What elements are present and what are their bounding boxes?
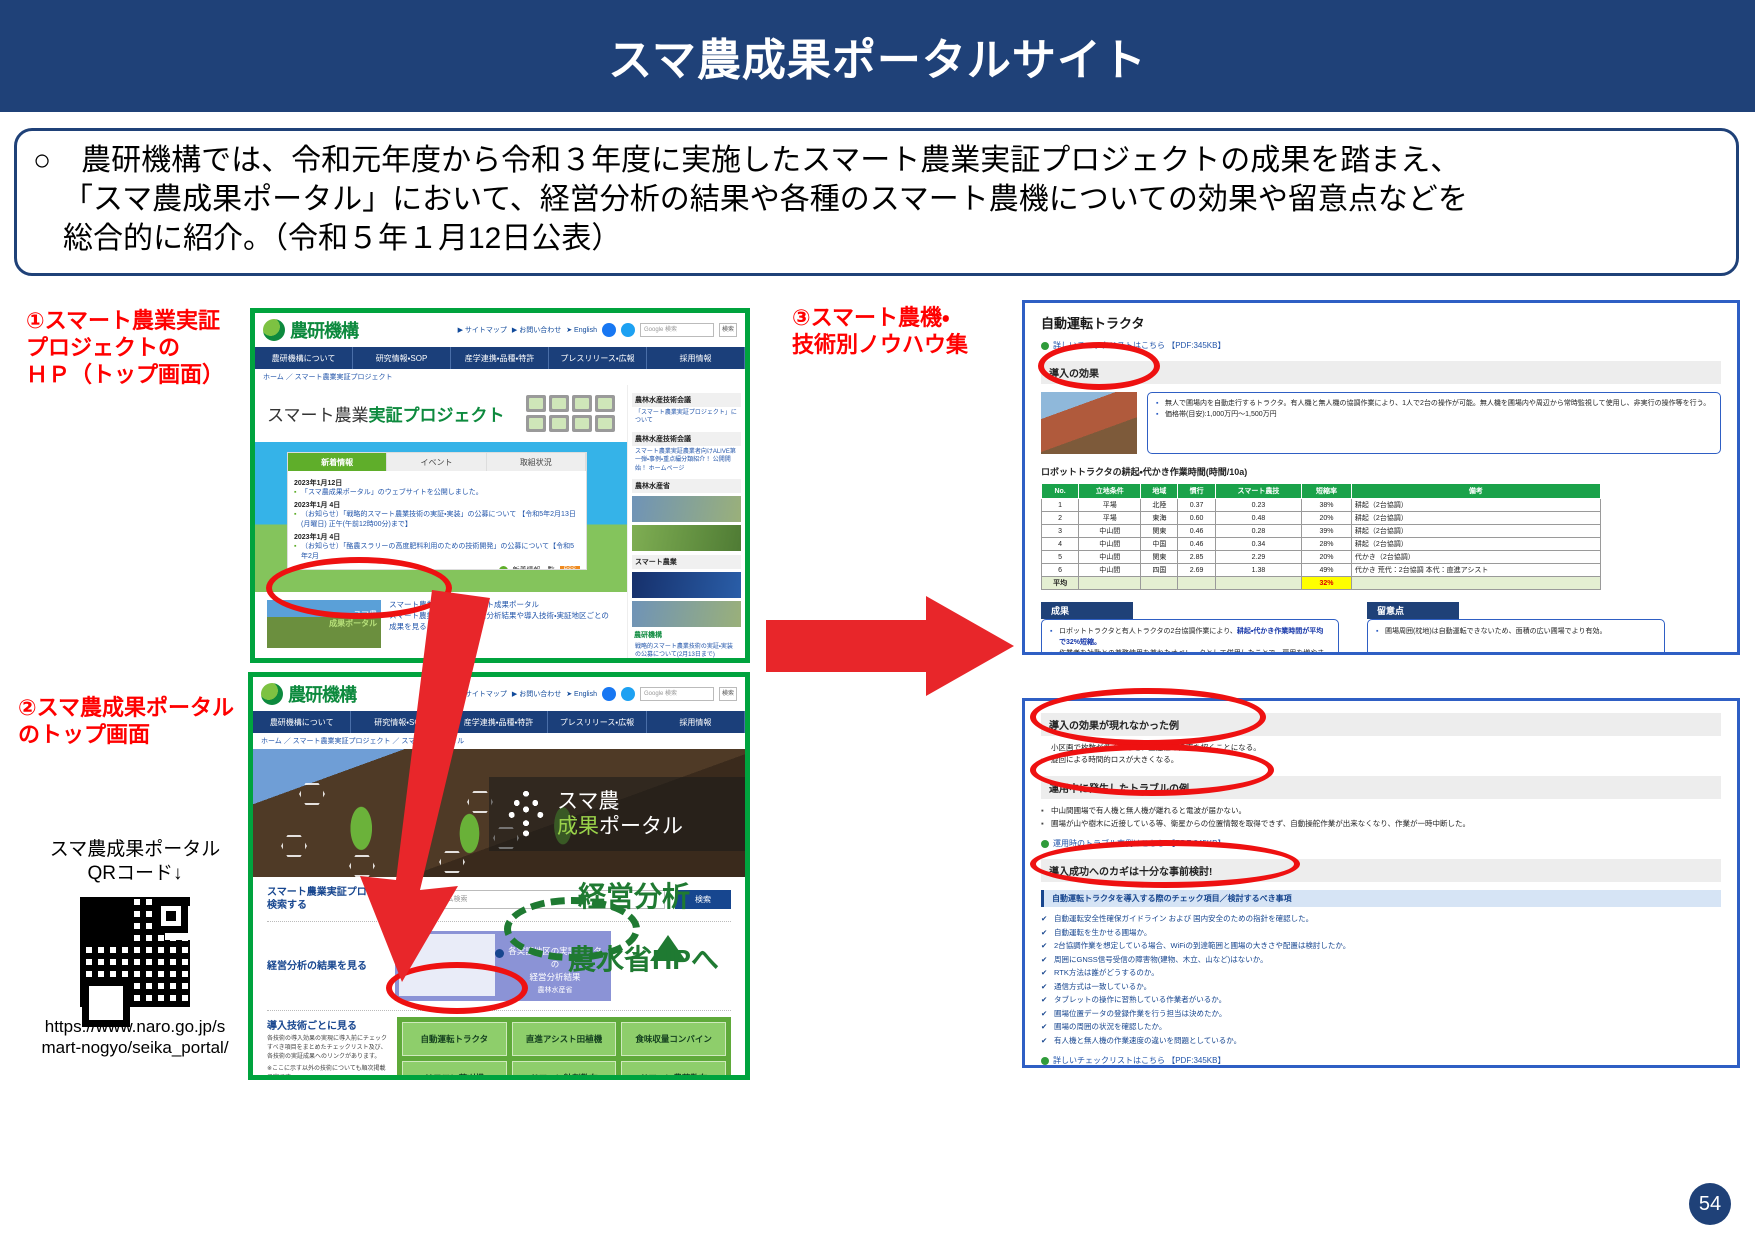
table-average-row: 平均 32% — [1042, 577, 1601, 590]
qr-caption-line-2: QRコード↓ — [40, 862, 230, 886]
nav-item-recruit[interactable]: 採用情報 — [647, 711, 745, 733]
sidebar-link[interactable]: スマート農業実証農業者向けALIVE第一弾・事例・重点編分類紹介！ 公開開始！ … — [632, 446, 741, 475]
qr-url-text: https://www.naro.go.jp/smart-nogyo/seika… — [40, 1016, 230, 1059]
check-item: 圃場位置データの登録作業を行う担当は決めたか。 — [1041, 1007, 1721, 1021]
news-card: 新着情報 イベント 取組状況 2023年1月12日 「スマ農成果ポータル」のウェ… — [287, 452, 587, 570]
naro-logo-icon — [261, 683, 283, 705]
sidebar-link[interactable]: 「スマート農業実証プロジェクト」について — [632, 407, 741, 428]
cloud-icon — [595, 415, 615, 432]
nav-item-recruit[interactable]: 採用情報 — [647, 347, 745, 369]
work-time-table: No. 立地条件 地域 慣行 スマート農技 短縮率 備考 1平場北陸0.370.… — [1041, 483, 1601, 590]
tractor-icon — [549, 395, 569, 412]
naro-logo-icon — [263, 319, 285, 341]
breadcrumb: ホーム ／ スマート農業実証プロジェクト — [255, 369, 745, 385]
tablet-icon — [572, 415, 592, 432]
site-search-input[interactable]: Google 検索 — [640, 687, 714, 701]
hex-icon — [281, 835, 307, 857]
english-link[interactable]: ➤ English — [566, 326, 597, 334]
callout-2-line-2: のトップ画面 — [18, 722, 248, 749]
check-item: 周囲にGNSS信号受信の障害物(建物、木立、山など)はないか。 — [1041, 953, 1721, 967]
callout-2-line-1: ②スマ農成果ポータル — [18, 695, 248, 722]
sitemap-link[interactable]: ▶ サイトマップ — [458, 325, 507, 335]
tab-status[interactable]: 取組状況 — [487, 453, 586, 471]
tech-section: 導入技術ごとに見る 各技術の導入効果の実現に導入前にチェックすべき項目をまとめた… — [253, 1011, 745, 1080]
screenshot-trouble-and-checklist: 導入の効果が現れなかった例 小区画で枚数が多くなると、生産性の低下を招くことにな… — [1022, 698, 1740, 1068]
results-body: ロボットトラクタと有人トラクタの2台協調作業により、耕起・代かき作業時間が平均で… — [1041, 619, 1339, 655]
news-body: 2023年1月12日 「スマ農成果ポータル」のウェブサイトを公開しました。 20… — [288, 471, 586, 570]
site-search-button[interactable]: 検索 — [719, 323, 737, 337]
project-title: スマート農業実証プロジェクト — [267, 401, 505, 426]
facebook-icon[interactable] — [602, 323, 616, 337]
play-icon — [1041, 342, 1049, 350]
play-icon — [1041, 840, 1049, 848]
tile-remote-mower[interactable]: リモコン草刈機 — [402, 1061, 507, 1080]
tile-auto-tractor[interactable]: 自動運転トラクタ — [402, 1022, 507, 1056]
results-column: 成果 ロボットトラクタと有人トラクタの2台協調作業により、耕起・代かき作業時間が… — [1041, 602, 1339, 655]
results-item: ロボットトラクタと有人トラクタの2台協調作業により、耕起・代かき作業時間が平均で… — [1050, 626, 1330, 648]
screenshot-auto-tractor-knowhow: 自動運転トラクタ 詳しいチェックリストはこちら 【PDF:345KB】 導入の効… — [1022, 300, 1740, 655]
naro-site-header: 農研機構 ▶ サイトマップ ▶ お問い合わせ ➤ English Google … — [255, 313, 745, 347]
cautions-body: 圃場周囲(枕地)は自動運転できないため、面積の広い圃場でより有効。 — [1367, 619, 1665, 655]
facebook-icon[interactable] — [602, 687, 616, 701]
tile-rice-planter[interactable]: 直進アシスト田植機 — [512, 1022, 617, 1056]
cautions-item: 圃場周囲(枕地)は自動運転できないため、面積の広い圃場でより有効。 — [1376, 626, 1656, 637]
tile-drone-pesticide[interactable]: ドローン農薬散布 — [621, 1061, 726, 1080]
tech-section-note-2: ※ここに示す以外の技術についても順次掲載予定です。 — [267, 1065, 387, 1080]
twitter-icon[interactable] — [621, 687, 635, 701]
effect-section-bar: 導入の効果 — [1041, 361, 1721, 384]
site-search-button[interactable]: 検索 — [719, 687, 737, 701]
slide-title-bar: スマ農成果ポータルサイト — [0, 0, 1755, 112]
naro-global-nav: 農研機構について 研究情報・SOP 産学連携・品種・特許 プレスリリース・広報 … — [255, 347, 745, 369]
play-icon — [499, 566, 508, 570]
project-title-plain: スマート農業 — [267, 406, 369, 425]
sidebar-heading: 農林水産技術会議 — [632, 393, 741, 407]
naro-logo-text: 農研機構 — [290, 317, 358, 343]
cautions-heading: 留意点 — [1367, 602, 1459, 619]
callout-3-line-2: 技術別ノウハウ集 — [792, 332, 1007, 359]
table-row: 4中山間中国0.460.3428%耕起（2台協調） — [1042, 538, 1601, 551]
project-title-accent: 実証プロジェクト — [369, 406, 505, 425]
page-number-badge: 54 — [1689, 1183, 1731, 1225]
check-item: 通信方式は一致しているか。 — [1041, 980, 1721, 994]
contact-link[interactable]: ▶ お問い合わせ — [512, 325, 561, 335]
th-no: No. — [1042, 484, 1079, 499]
no-effect-item: 旋回による時間的ロスが大きくなる。 — [1041, 754, 1721, 766]
effect-item: 価格帯(目安):1,000万円～1,500万円 — [1156, 409, 1712, 420]
trouble-item: 中山間圃場で有人機と無人機が離れると電波が届かない。 — [1041, 805, 1721, 817]
right-sidebar: 農林水産技術会議 「スマート農業実証プロジェクト」について 農林水産技術会議 ス… — [627, 385, 745, 663]
lead-paragraph-box: ○ 農研機構では、令和元年度から令和３年度に実施したスマート農業実証プロジェクト… — [14, 128, 1739, 276]
callout-label-3: ③スマート農機・ 技術別ノウハウ集 — [792, 305, 1007, 359]
sidebar-banner-image[interactable] — [632, 496, 741, 522]
field-icon — [595, 395, 615, 412]
tab-news[interactable]: 新着情報 — [288, 453, 387, 471]
tile-combine[interactable]: 食味収量コンバイン — [621, 1022, 726, 1056]
site-search-input[interactable]: Google 検索 — [640, 323, 714, 337]
callout-1-line-1: ①スマート農業実証 — [26, 308, 241, 335]
play-icon — [1041, 1057, 1049, 1065]
th-conv: 慣行 — [1178, 484, 1215, 499]
avg-reduction-value: 32% — [1302, 577, 1352, 590]
check-item: 圃場の周囲の状況を確認したか。 — [1041, 1020, 1721, 1034]
lead-line-1: ○ 農研機構では、令和元年度から令和３年度に実施したスマート農業実証プロジェクト… — [33, 141, 1720, 180]
no-effect-item: 小区画で枚数が多くなると、生産性の低下を招くことになる。 — [1041, 742, 1721, 754]
table-header-row: No. 立地条件 地域 慣行 スマート農技 短縮率 備考 — [1042, 484, 1601, 499]
twitter-icon[interactable] — [621, 323, 635, 337]
table-row: 2平場東海0.600.4820%耕起（2台協調） — [1042, 512, 1601, 525]
tech-section-note-1: 各技術の導入効果の実現に導入前にチェックすべき項目をまとめたチェックリスト及び、… — [267, 1035, 387, 1062]
sidebar-heading: 農林水産技術会議 — [632, 432, 741, 446]
checklist-pdf-link[interactable]: 詳しいチェックリストはこちら 【PDF:345KB】 — [1041, 340, 1721, 351]
hex-icon — [299, 783, 325, 805]
nav-item-press[interactable]: プレスリリース・広報 — [549, 347, 647, 369]
tab-events[interactable]: イベント — [387, 453, 486, 471]
avg-label: 平均 — [1042, 577, 1079, 590]
check-item: 自動運転を生かせる圃場か。 — [1041, 926, 1721, 940]
qr-block: スマ農成果ポータル QRコード↓ https://www.naro.go.jp/… — [40, 838, 230, 1058]
news-link[interactable]: （お知らせ）「酪農スラリーの高度肥料利用のための技術開発」の公募について【令和5… — [294, 542, 580, 561]
callout-1-line-2: プロジェクトの — [26, 335, 241, 362]
callout-label-1: ①スマート農業実証 プロジェクトの ＨＰ（トップ画面） — [26, 308, 241, 388]
nav-item-collab[interactable]: 産学連携・品種・特許 — [451, 347, 549, 369]
tech-icon-grid — [526, 395, 615, 432]
news-date: 2023年1月12日 — [294, 478, 580, 488]
results-item: 作業者を社動との兼務使用を兼ねたオペレータとして併用したことで、雇用を増やさずに… — [1050, 648, 1330, 655]
th-note: 備考 — [1351, 484, 1600, 499]
qr-code-image — [75, 892, 195, 1012]
callout-label-2: ②スマ農成果ポータル のトップ画面 — [18, 695, 248, 749]
table-caption: ロボットトラクタの耕起・代かき作業時間(時間/10a) — [1041, 465, 1721, 478]
th-rate: 短縮率 — [1302, 484, 1352, 499]
news-date: 2023年1月 4日 — [294, 500, 580, 510]
table-row: 1平場北陸0.370.2338%耕起（2台協調） — [1042, 499, 1601, 512]
table-row: 3中山間関東0.460.2839%耕起（2台協調） — [1042, 525, 1601, 538]
qr-caption-line-1: スマ農成果ポータル — [40, 838, 230, 862]
effect-text-box: 無人で圃場内を自動走行するトラクタ。有人機と無人機の協調作業により、1人で2台の… — [1147, 392, 1721, 454]
th-region: 地域 — [1141, 484, 1178, 499]
checklist-blue-bar: 自動運転トラクタを導入する際のチェック項目／検討するべき事項 — [1041, 890, 1721, 907]
nav-item-research[interactable]: 研究情報・SOP — [353, 347, 451, 369]
news-footer: 新着情報一覧 RSS — [294, 565, 580, 570]
check-item: タブレットの操作に習熟している作業者がいるか。 — [1041, 993, 1721, 1007]
news-link[interactable]: （お知らせ）「戦略的スマート農業技術の実証・実装」の公募について 【令和5年2月… — [294, 510, 580, 529]
effect-item: 無人で圃場内を自動走行するトラクタ。有人機と無人機の協調作業により、1人で2台の… — [1156, 398, 1712, 409]
success-key-section-bar: 導入成功へのカギは十分な事前検討! — [1041, 859, 1721, 882]
news-more-link[interactable]: 新着情報一覧 — [513, 565, 555, 570]
sidebar-banner-image[interactable] — [632, 525, 741, 551]
callout-1-line-3: ＨＰ（トップ画面） — [26, 362, 241, 389]
rss-button[interactable]: RSS — [560, 566, 580, 570]
hero-band: 新着情報 イベント 取組状況 2023年1月12日 「スマ農成果ポータル」のウェ… — [255, 442, 627, 592]
news-tabs: 新着情報 イベント 取組状況 — [288, 453, 586, 471]
tile-drone-granule[interactable]: ドローン粒剤散布 — [512, 1061, 617, 1080]
th-smart: スマート農技 — [1215, 484, 1302, 499]
sidebar-heading: スマート農業 — [632, 555, 741, 569]
lead-line-3: 総合的に紹介。（令和５年１月12日公表） — [33, 219, 1720, 258]
annotation-arrow-to-knowhow — [766, 592, 1016, 702]
check-item: RTK方法は誰がどうするのか。 — [1041, 966, 1721, 980]
check-item: 有人機と無人機の作業速度の違いを問題としているか。 — [1041, 1034, 1721, 1048]
nav-item-about[interactable]: 農研機構について — [253, 711, 351, 733]
network-icon — [572, 395, 592, 412]
page-title: スマ農成果ポータルサイト — [608, 24, 1147, 88]
leaf-icon — [526, 395, 546, 412]
table-row: 6中山間四国2.691.3849%代かき 荒代：2台協調 本代：直進アシスト — [1042, 564, 1601, 577]
sidebar-banner-image[interactable] — [632, 601, 741, 627]
callout-3-line-1: ③スマート農機・ — [792, 305, 1007, 332]
sidebar-heading-green: 農研機構 — [632, 627, 741, 641]
results-heading: 成果 — [1041, 602, 1133, 619]
sidebar-heading-green: 農研機構 — [632, 662, 741, 663]
sidebar-heading: 農林水産省 — [632, 479, 741, 493]
news-link[interactable]: 「スマ農成果ポータル」のウェブサイトを公開しました。 — [294, 488, 580, 497]
news-date: 2023年1月 4日 — [294, 532, 580, 542]
checklist-pdf-link-bottom[interactable]: 詳しいチェックリストはこちら 【PDF:345KB】 — [1041, 1055, 1721, 1066]
drone-icon — [549, 415, 569, 432]
nav-item-about[interactable]: 農研機構について — [255, 347, 353, 369]
th-site: 立地条件 — [1079, 484, 1141, 499]
lead-line-2: 「スマ農成果ポータル」において、経営分析の結果や各種のスマート農機についての効果… — [33, 180, 1720, 219]
map-icon — [526, 415, 546, 432]
trouble-section-bar: 運用中に発生したトラブルの例 — [1041, 776, 1721, 799]
check-item: 自動運転安全性確保ガイドライン および 国内安全のための指針を確認した。 — [1041, 912, 1721, 926]
knowhow-title: 自動運転トラクタ — [1041, 313, 1721, 332]
sidebar-banner-image[interactable] — [632, 572, 741, 598]
table-row: 5中山間関東2.852.2920%代かき（2台協調） — [1042, 551, 1601, 564]
no-effect-section-bar: 導入の効果が現れなかった例 — [1041, 713, 1721, 736]
annotation-arrow-portal-down — [340, 590, 600, 1020]
trouble-item: 圃場が山や樹木に近接している等、衛星からの位置情報を取得できず、自動操舵作業が出… — [1041, 818, 1721, 830]
project-title-row: スマート農業実証プロジェクト — [255, 385, 627, 442]
trouble-pdf-link[interactable]: 運用時のトラブル事例はこちら 【PDF:345KB】 — [1041, 838, 1721, 849]
check-item: 2台協調作業を想定している場合、WiFiの到達範囲と圃場の大きさや配置は検討した… — [1041, 939, 1721, 953]
tractor-photo — [1041, 392, 1137, 454]
cautions-column: 留意点 圃場周囲(枕地)は自動運転できないため、面積の広い圃場でより有効。 — [1367, 602, 1665, 655]
sidebar-link[interactable]: 戦略的スマート農業技術の実証・実装の公募について(2月13日まで) — [632, 641, 741, 662]
tech-tile-grid: 自動運転トラクタ 直進アシスト田植機 食味収量コンバイン リモコン草刈機 ドロー… — [397, 1017, 731, 1080]
